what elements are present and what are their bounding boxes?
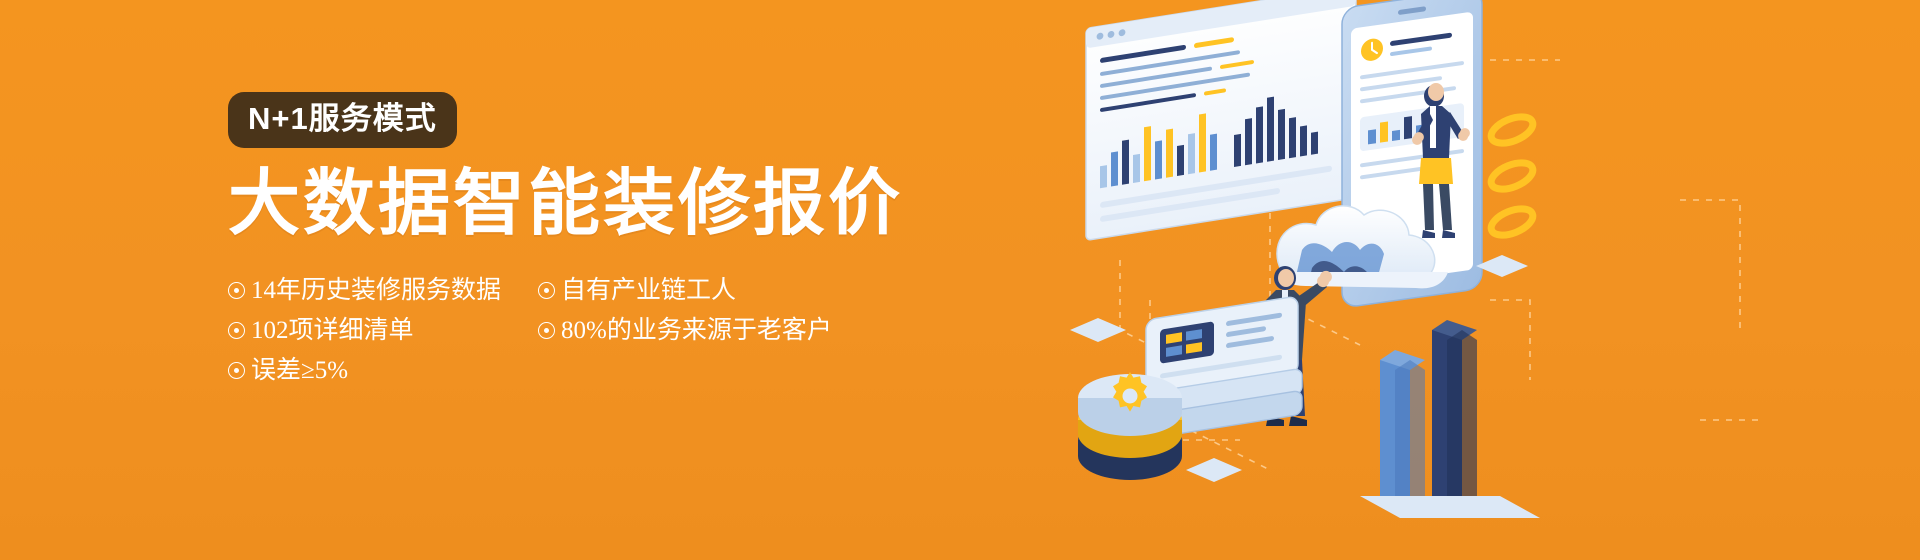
- list-item-label: 80%的业务来源于老客户: [561, 318, 832, 343]
- bullet-dot-icon: [228, 362, 245, 379]
- bullet-dot-icon: [538, 282, 555, 299]
- page-title: 大数据智能装修报价: [228, 168, 903, 240]
- list-item-label: 102项详细清单: [251, 318, 414, 343]
- list-item: 自有产业链工人: [538, 270, 903, 310]
- bullet-dot-icon: [538, 322, 555, 339]
- hero-copy: N+1服务模式 大数据智能装修报价 14年历史装修服务数据 自有产业链工人 10…: [228, 92, 903, 390]
- list-item-label: 自有产业链工人: [561, 278, 736, 303]
- list-item: 80%的业务来源于老客户: [538, 310, 903, 350]
- list-item-label: 14年历史装修服务数据: [251, 278, 501, 303]
- bullet-dot-icon: [228, 282, 245, 299]
- list-item-label: 误差≥5%: [251, 358, 348, 383]
- banner-hero: N+1服务模式 大数据智能装修报价 14年历史装修服务数据 自有产业链工人 10…: [0, 0, 1920, 560]
- bullet-dot-icon: [228, 322, 245, 339]
- list-item: 14年历史装修服务数据: [228, 270, 528, 310]
- ring-stack: [1487, 112, 1536, 241]
- feature-bullets: 14年历史装修服务数据 自有产业链工人 102项详细清单 80%的业务来源于老客…: [228, 270, 903, 390]
- badge-service-model: N+1服务模式: [228, 92, 457, 148]
- list-item: 102项详细清单: [228, 310, 528, 350]
- coin-stack: [1078, 372, 1182, 480]
- list-item: 误差≥5%: [228, 350, 528, 390]
- isometric-big-data-illustration: [1060, 0, 1920, 560]
- bar-chart-blocks: [1360, 320, 1540, 518]
